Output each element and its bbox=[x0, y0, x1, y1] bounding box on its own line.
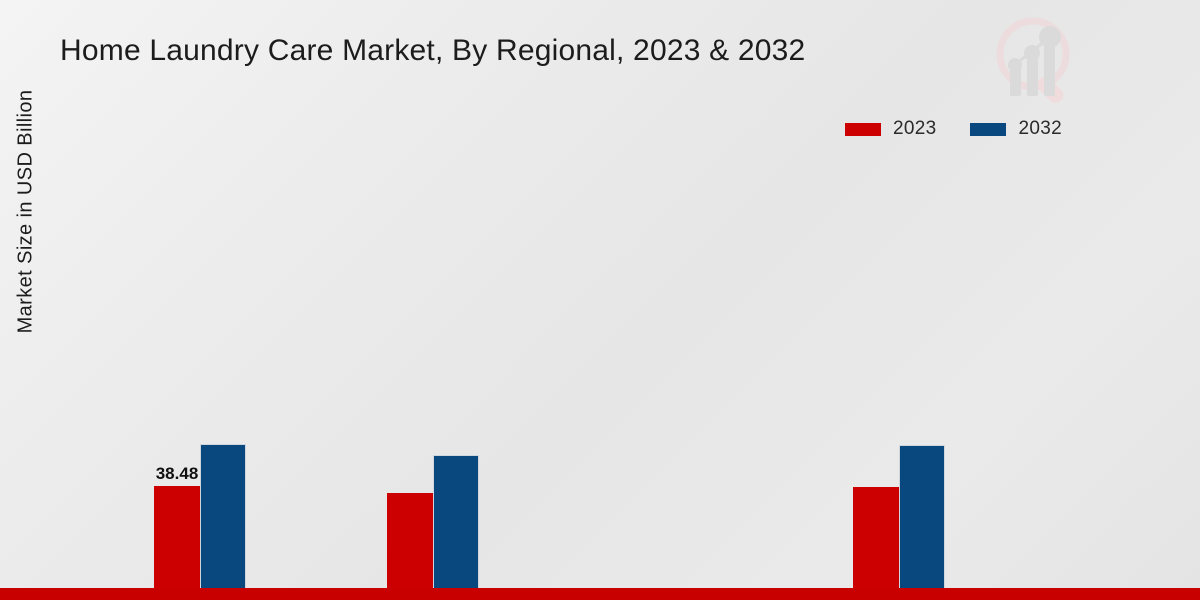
plot-area: 38.48 NORTHAMERICAEUROPESOUTHAMERICAASIA… bbox=[44, 150, 1164, 470]
bar-2023-asia-pacific[interactable] bbox=[853, 487, 899, 600]
legend-label-2023: 2023 bbox=[893, 118, 936, 140]
legend-swatch-2032 bbox=[970, 123, 1006, 136]
y-axis-title: Market Size in USD Billion bbox=[15, 42, 38, 382]
legend-item-2023[interactable]: 2023 bbox=[845, 118, 936, 140]
chart-legend: 2023 2032 bbox=[845, 118, 1062, 140]
chart-canvas: Home Laundry Care Market, By Regional, 2… bbox=[0, 0, 1200, 600]
bar-group bbox=[853, 150, 945, 600]
bar-group bbox=[1060, 150, 1152, 600]
bar-2023-north-america[interactable]: 38.48 bbox=[154, 486, 200, 600]
bar-group: 38.48 bbox=[154, 150, 246, 600]
legend-label-2032: 2032 bbox=[1018, 118, 1061, 140]
bar-2032-europe[interactable] bbox=[433, 455, 479, 600]
market-research-logo-watermark bbox=[985, 8, 1095, 108]
legend-swatch-2023 bbox=[845, 123, 881, 136]
legend-item-2032[interactable]: 2032 bbox=[970, 118, 1061, 140]
footer-bar bbox=[0, 588, 1200, 600]
chart-title: Home Laundry Care Market, By Regional, 2… bbox=[60, 34, 805, 68]
bar-group bbox=[387, 150, 479, 600]
bar-group bbox=[620, 150, 712, 600]
bar-value-label: 38.48 bbox=[156, 464, 199, 484]
bar-2023-europe[interactable] bbox=[387, 493, 433, 600]
bar-2032-asia-pacific[interactable] bbox=[899, 445, 945, 600]
bar-2032-north-america[interactable] bbox=[200, 444, 246, 600]
